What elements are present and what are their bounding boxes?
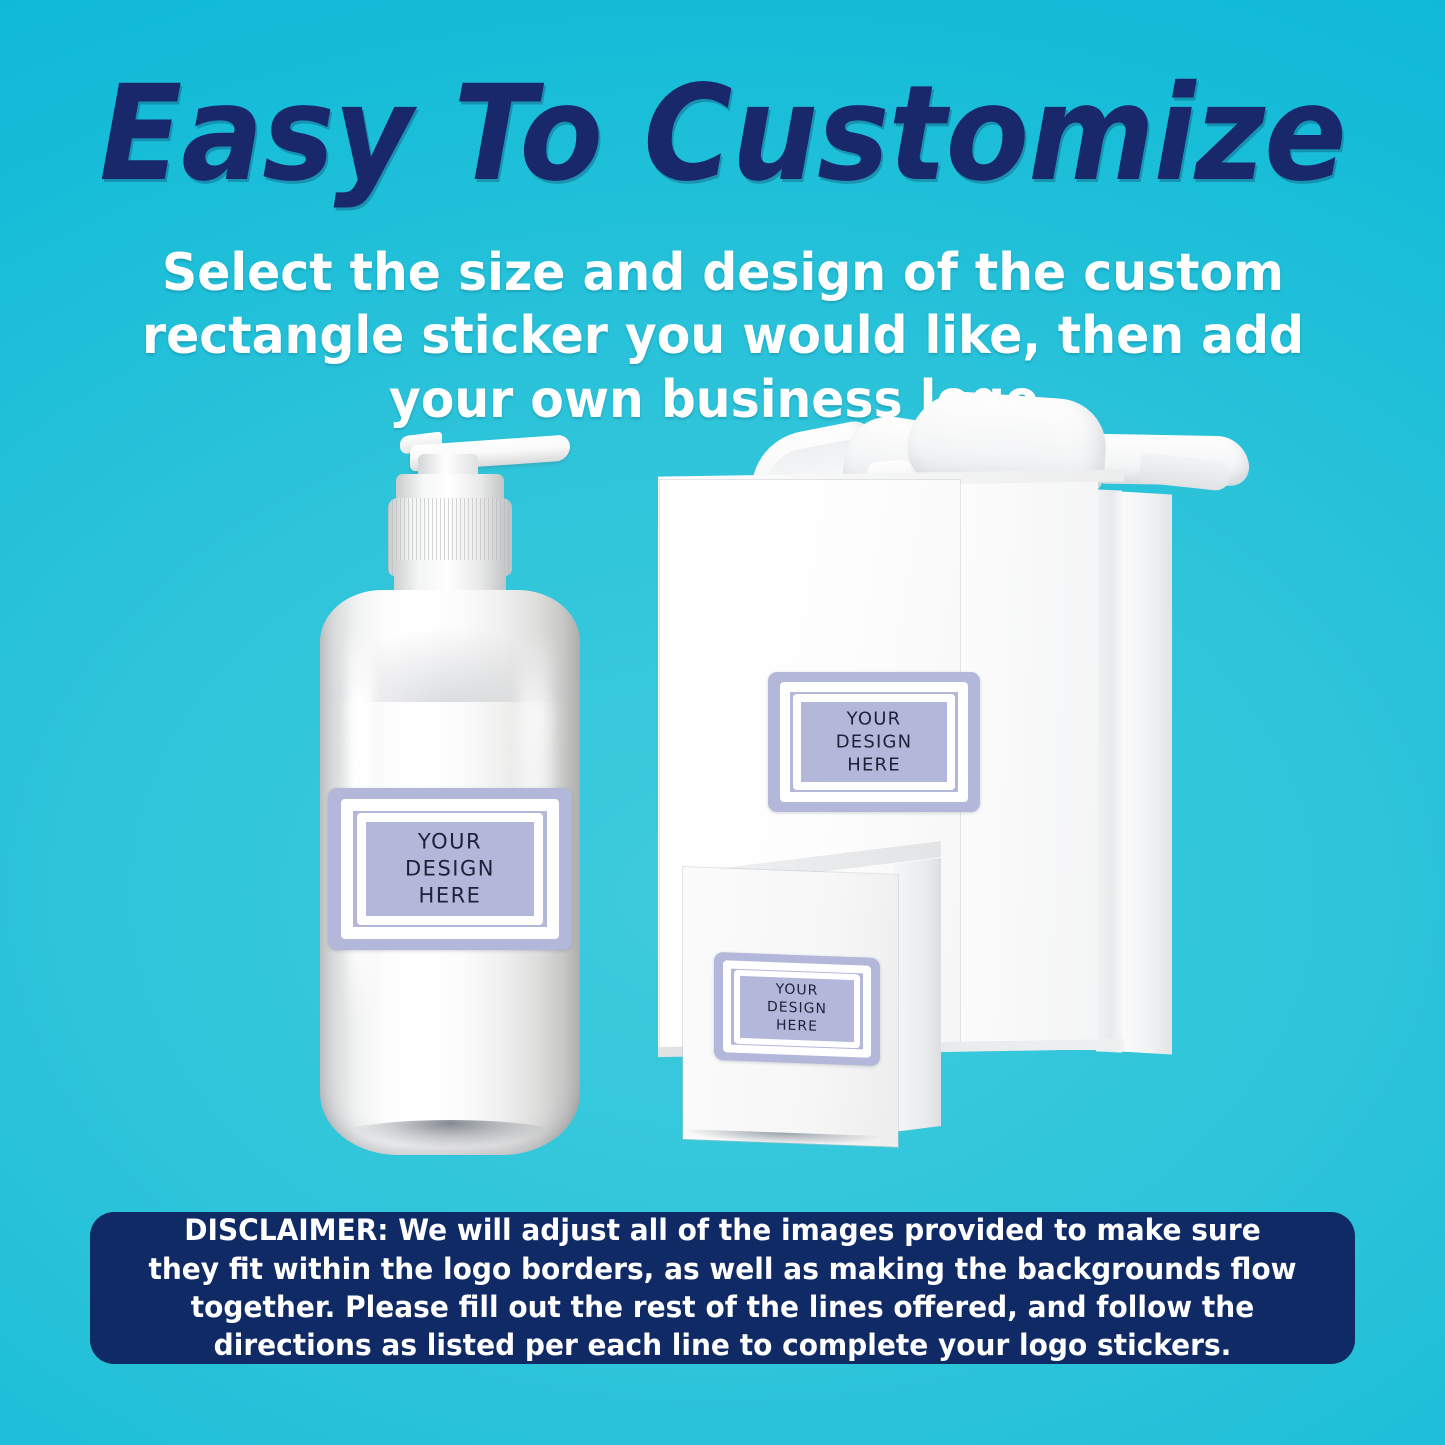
- bottle-base-shadow: [334, 1120, 566, 1154]
- gift-box-side-far: [1120, 491, 1172, 1054]
- disclaimer-panel: DISCLAIMER: We will adjust all of the im…: [90, 1212, 1355, 1364]
- promo-banner: Easy To Customize Select the size and de…: [0, 0, 1445, 1445]
- sticker-label-text: YOUR DESIGN HERE: [714, 979, 880, 1039]
- sticker-label-gift-box: YOUR DESIGN HERE: [768, 672, 980, 812]
- small-box-side-face: [893, 858, 941, 1132]
- page-title: Easy To Customize: [58, 68, 1387, 200]
- sticker-label-text: YOUR DESIGN HERE: [768, 707, 980, 776]
- sticker-label-bottle: YOUR DESIGN HERE: [328, 788, 572, 950]
- sticker-label-small-box: YOUR DESIGN HERE: [714, 952, 880, 1066]
- sticker-label-text: YOUR DESIGN HERE: [328, 829, 572, 910]
- gift-box-side-near: [1096, 489, 1122, 1052]
- disclaimer-text: DISCLAIMER: We will adjust all of the im…: [148, 1211, 1297, 1364]
